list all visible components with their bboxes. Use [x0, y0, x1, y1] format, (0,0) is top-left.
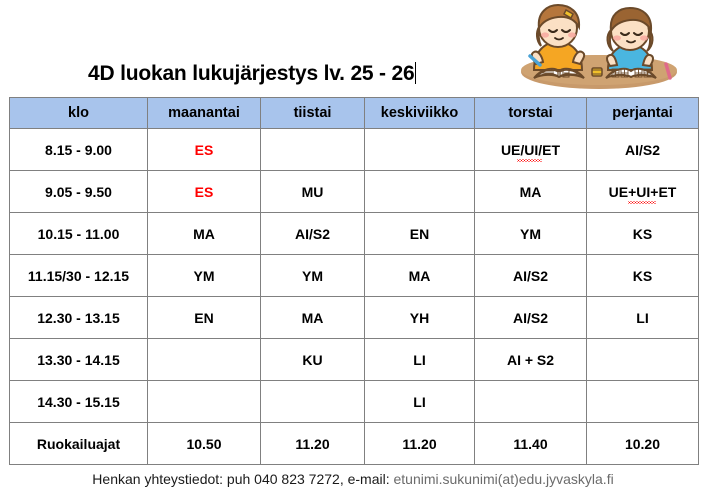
time-label: 14.30 - 15.15 — [10, 381, 148, 423]
time-label: 11.15/30 - 12.15 — [10, 255, 148, 297]
table-row: 9.05 - 9.50 ES MU MA UE+UI+ET — [10, 171, 699, 213]
lesson-cell[interactable]: AI/S2 — [587, 129, 699, 171]
column-header-keskiviikko[interactable]: keskiviikko — [365, 98, 475, 129]
lesson-cell[interactable]: EN — [148, 297, 261, 339]
lesson-cell[interactable]: YH — [365, 297, 475, 339]
lesson-cell[interactable]: ES — [148, 171, 261, 213]
contact-email[interactable]: etunimi.sukunimi(at)edu.jyvaskyla.fi — [394, 471, 614, 487]
footer-contact-line: Henkan yhteystiedot: puh 040 823 7272, e… — [0, 471, 706, 487]
lesson-cell[interactable]: YM — [148, 255, 261, 297]
lesson-cell[interactable] — [475, 381, 587, 423]
lesson-cell[interactable]: AI + S2 — [475, 339, 587, 381]
schedule-table: klo maanantai tiistai keskiviikko torsta… — [9, 97, 699, 465]
page-title-text: 4D luokan lukujärjestys lv. 25 - 26 — [88, 62, 414, 85]
table-row: 13.30 - 14.15 KU LI AI + S2 — [10, 339, 699, 381]
contact-text: Henkan yhteystiedot: puh 040 823 7272, e… — [92, 471, 393, 487]
time-label: 12.30 - 13.15 — [10, 297, 148, 339]
lesson-cell[interactable] — [587, 381, 699, 423]
lesson-cell[interactable] — [148, 339, 261, 381]
lesson-cell[interactable]: AI/S2 — [261, 213, 365, 255]
time-label: 13.30 - 14.15 — [10, 339, 148, 381]
lesson-cell[interactable]: KS — [587, 255, 699, 297]
lesson-cell[interactable]: LI — [587, 297, 699, 339]
meal-time-cell[interactable]: 10.50 — [148, 423, 261, 465]
column-header-perjantai[interactable]: perjantai — [587, 98, 699, 129]
lesson-cell[interactable]: YM — [475, 213, 587, 255]
lesson-cell[interactable]: MA — [475, 171, 587, 213]
table-row: 8.15 - 9.00 ES UE/UI/ET AI/S2 — [10, 129, 699, 171]
lesson-cell[interactable]: LI — [365, 381, 475, 423]
lesson-cell[interactable]: AI/S2 — [475, 297, 587, 339]
column-header-maanantai[interactable]: maanantai — [148, 98, 261, 129]
lesson-cell[interactable] — [365, 171, 475, 213]
meal-time-cell[interactable]: 11.20 — [261, 423, 365, 465]
lesson-cell[interactable]: KS — [587, 213, 699, 255]
lesson-cell[interactable] — [261, 129, 365, 171]
lesson-cell[interactable] — [365, 129, 475, 171]
title-row: 4D luokan lukujärjestys lv. 25 - 26 — [0, 60, 706, 92]
lesson-cell[interactable] — [261, 381, 365, 423]
table-row: 12.30 - 13.15 EN MA YH AI/S2 LI — [10, 297, 699, 339]
lesson-cell[interactable] — [148, 381, 261, 423]
column-header-klo[interactable]: klo — [10, 98, 148, 129]
column-header-torstai[interactable]: torstai — [475, 98, 587, 129]
column-header-tiistai[interactable]: tiistai — [261, 98, 365, 129]
lesson-cell[interactable] — [587, 339, 699, 381]
meal-time-cell[interactable]: 11.40 — [475, 423, 587, 465]
spellcheck-underlined-text: UE/UI/ET — [501, 142, 560, 158]
lesson-cell[interactable]: MA — [365, 255, 475, 297]
meal-time-cell[interactable]: 10.20 — [587, 423, 699, 465]
lesson-cell[interactable]: UE+UI+ET — [587, 171, 699, 213]
lesson-cell[interactable]: KU — [261, 339, 365, 381]
lesson-cell[interactable]: EN — [365, 213, 475, 255]
page-title[interactable]: 4D luokan lukujärjestys lv. 25 - 26 — [88, 60, 416, 88]
table-row: 10.15 - 11.00 MA AI/S2 EN YM KS — [10, 213, 699, 255]
text-caret — [415, 62, 416, 84]
meal-times-row: Ruokailuajat 10.50 11.20 11.20 11.40 10.… — [10, 423, 699, 465]
lesson-cell[interactable]: MA — [261, 297, 365, 339]
time-label: 10.15 - 11.00 — [10, 213, 148, 255]
spellcheck-underlined-text: UE+UI+ET — [609, 184, 677, 200]
table-row: 14.30 - 15.15 LI — [10, 381, 699, 423]
table-header-row: klo maanantai tiistai keskiviikko torsta… — [10, 98, 699, 129]
lesson-cell[interactable]: MA — [148, 213, 261, 255]
lesson-cell[interactable]: LI — [365, 339, 475, 381]
lesson-cell[interactable]: YM — [261, 255, 365, 297]
time-label: 9.05 - 9.50 — [10, 171, 148, 213]
lesson-cell[interactable]: ES — [148, 129, 261, 171]
time-label: 8.15 - 9.00 — [10, 129, 148, 171]
lesson-cell[interactable]: AI/S2 — [475, 255, 587, 297]
lesson-cell[interactable]: UE/UI/ET — [475, 129, 587, 171]
meal-times-label: Ruokailuajat — [10, 423, 148, 465]
meal-time-cell[interactable]: 11.20 — [365, 423, 475, 465]
lesson-cell[interactable]: MU — [261, 171, 365, 213]
table-row: 11.15/30 - 12.15 YM YM MA AI/S2 KS — [10, 255, 699, 297]
